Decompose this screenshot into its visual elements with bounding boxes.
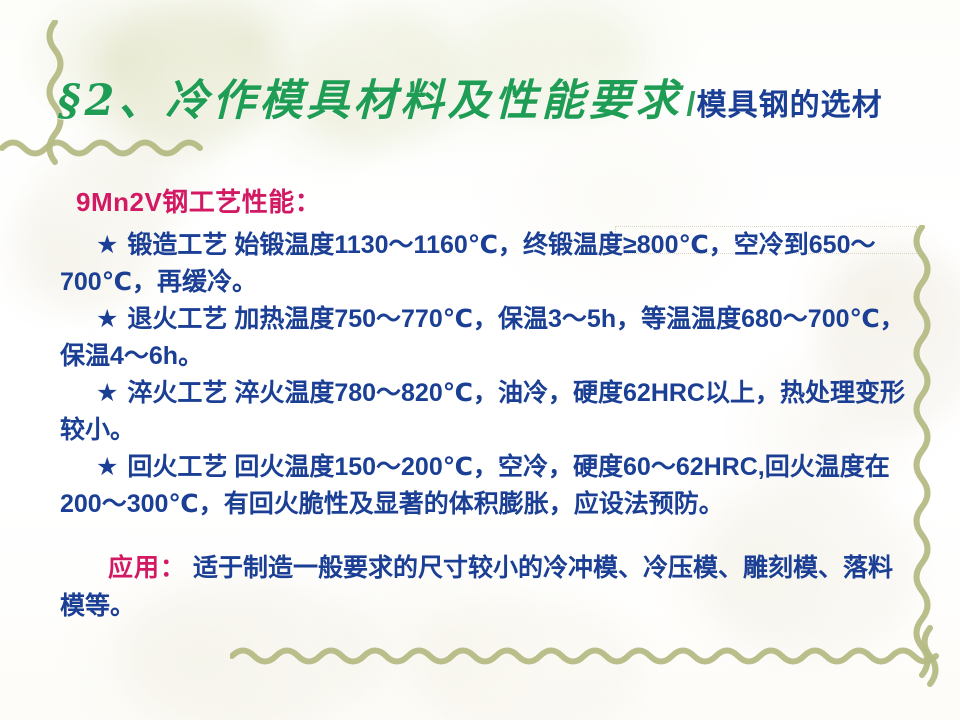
bullet-paragraph-annealing: ★ 退火工艺 加热温度750～770℃，保温3～5h，等温温度680～700℃，… [60,301,910,375]
star-bullet-icon: ★ [96,379,120,407]
bullet-text: 淬火工艺 淬火温度780～820℃，油冷，硬度62HRC以上，热处理变形较小。 [60,379,905,444]
slide-title-bar: §2、冷作模具材料及性能要求 / 模具钢的选材 [58,66,938,136]
star-bullet-icon: ★ [96,231,120,259]
slide-title-separator: / [686,85,695,123]
decorative-border-right [904,225,944,695]
slide-title-subtitle: 模具钢的选材 [697,80,883,124]
section-heading: 9Mn2V钢工艺性能： [76,182,910,219]
slide-canvas: §2、冷作模具材料及性能要求 / 模具钢的选材 9Mn2V钢工艺性能： ★ 锻造… [0,0,960,720]
application-label: 应用： [108,554,186,582]
bullet-paragraph-tempering: ★ 回火工艺 回火温度150～200℃，空冷，硬度60～62HRC,回火温度在2… [60,449,910,523]
slide-body: 9Mn2V钢工艺性能： ★ 锻造工艺 始锻温度1130～1160℃，终锻温度≥8… [60,182,910,625]
star-bullet-icon: ★ [96,453,120,481]
application-paragraph: 应用： 适于制造一般要求的尺寸较小的冷冲模、冷压模、雕刻模、落料模等。 [60,549,910,625]
bullet-text: 退火工艺 加热温度750～770℃，保温3～5h，等温温度680～700℃，保温… [60,305,905,370]
decorative-border-bottom [230,622,960,692]
bullet-paragraph-forging: ★ 锻造工艺 始锻温度1130～1160℃，终锻温度≥800℃，空冷到650～7… [60,227,910,301]
star-bullet-icon: ★ [96,305,120,333]
slide-title-main: §2、冷作模具材料及性能要求 [58,66,682,128]
bullet-text: 回火工艺 回火温度150～200℃，空冷，硬度60～62HRC,回火温度在200… [60,453,890,518]
bullet-text: 锻造工艺 始锻温度1130～1160℃，终锻温度≥800℃，空冷到650～700… [60,231,875,296]
bullet-paragraph-quenching: ★ 淬火工艺 淬火温度780～820℃，油冷，硬度62HRC以上，热处理变形较小… [60,375,910,449]
